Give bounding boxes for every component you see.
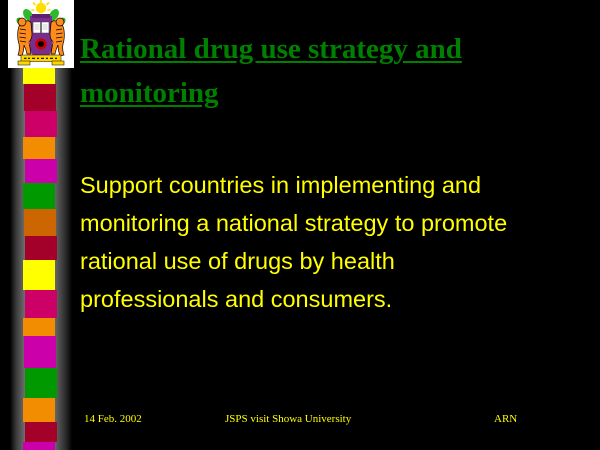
coat-of-arms-icon <box>8 0 74 68</box>
presentation-slide: Rational drug use strategy and monitorin… <box>0 0 600 450</box>
footer-date: 14 Feb. 2002 <box>84 413 142 425</box>
body-line-4: professionals and consumers. <box>80 280 585 318</box>
stripe-segment <box>25 368 57 398</box>
stripe-segment <box>23 260 55 290</box>
stripe-segment <box>25 111 57 137</box>
stripe-segment <box>24 209 56 236</box>
slide-title: Rational drug use strategy and monitorin… <box>80 27 580 115</box>
stripe-segment <box>23 318 55 336</box>
slide-title-line-1: Rational drug use strategy and <box>80 27 580 71</box>
footer-author: ARN <box>494 413 517 425</box>
slide-title-line-2: monitoring <box>80 71 580 115</box>
slide-title-text-1: Rational drug use strategy and <box>80 33 462 65</box>
stripe-segment <box>25 290 57 318</box>
footer-event-title: JSPS visit Showa University <box>225 413 351 425</box>
body-line-2: monitoring a national strategy to promot… <box>80 204 585 242</box>
body-line-3: rational use of drugs by health <box>80 242 585 280</box>
stripe-segment <box>25 159 57 183</box>
slide-footer: 14 Feb. 2002 JSPS visit Showa University… <box>0 413 600 431</box>
coat-of-arms-emblem <box>8 0 74 68</box>
stripe-segment <box>25 236 57 260</box>
stripe-segment <box>24 84 56 111</box>
slide-title-text-2: monitoring <box>80 77 219 109</box>
color-stripe-decoration <box>24 62 56 450</box>
stripe-segment <box>23 183 55 209</box>
body-line-1: Support countries in implementing and <box>80 166 585 204</box>
slide-body: Support countries in implementing and mo… <box>80 166 585 318</box>
stripe-segment <box>23 442 55 450</box>
stripe-segment <box>23 137 55 159</box>
stripe-segment <box>24 336 56 368</box>
